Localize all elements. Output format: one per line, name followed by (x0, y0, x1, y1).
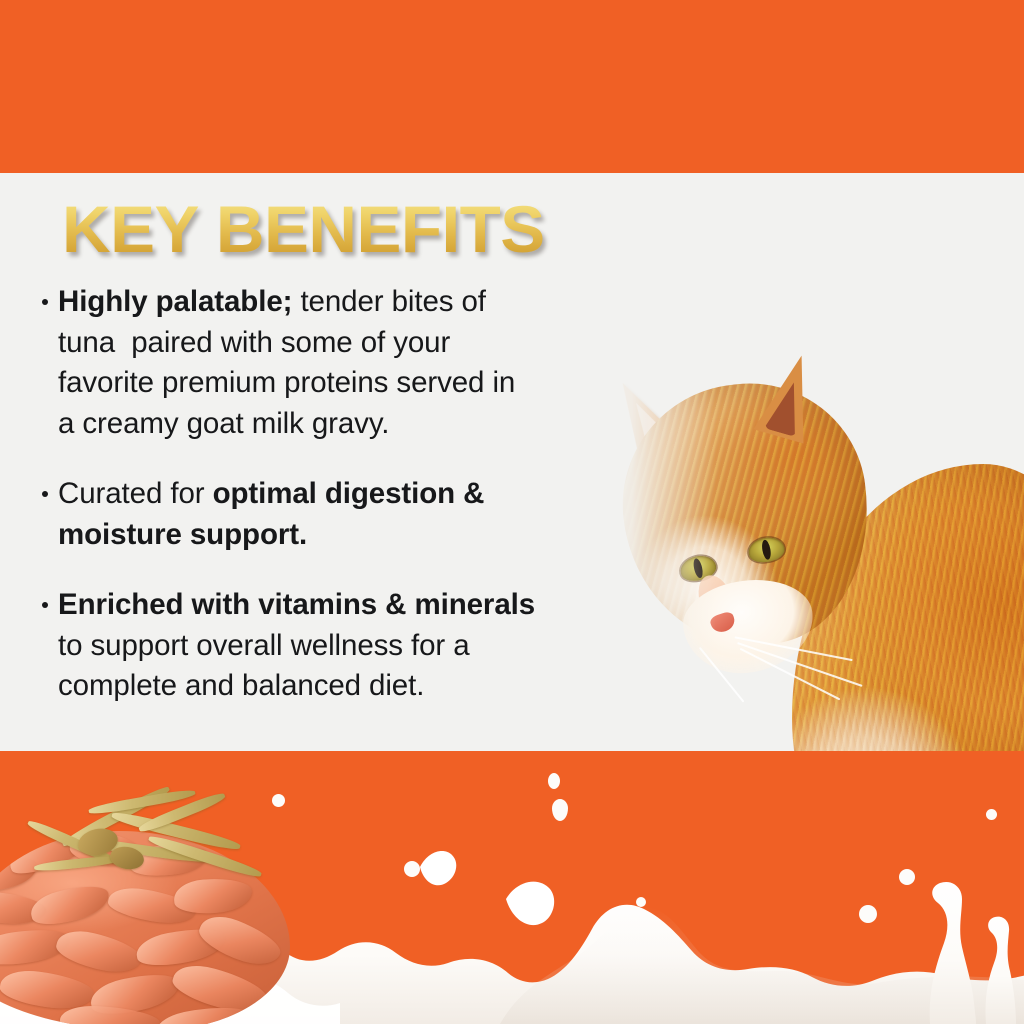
benefit-bold-text: moisture support. (58, 518, 307, 551)
bottom-orange-band (0, 751, 1024, 1024)
list-item: Enriched with vitamins & minerals to sup… (40, 585, 600, 707)
cat-photo-left-fade (596, 346, 716, 751)
benefit-text: a creamy goat milk gravy. (58, 404, 600, 445)
milk-droplet (859, 905, 877, 923)
list-item: Highly palatable; tender bites of tuna p… (40, 282, 600, 444)
page-title-wrap: KEY BENEFITS (62, 196, 535, 262)
benefit-text: complete and balanced diet. (58, 666, 600, 707)
cat-photo (596, 346, 1024, 751)
list-item: Curated for optimal digestion & moisture… (40, 474, 600, 555)
food-photo (0, 789, 320, 1024)
milk-droplet (548, 773, 560, 789)
bullet-dot-icon (42, 602, 48, 608)
benefit-bold-text: Highly palatable; (58, 285, 292, 318)
tuna-flake (53, 925, 145, 979)
milk-splash-finger-2 (506, 882, 554, 926)
benefit-text: Curated for (58, 477, 213, 510)
content-panel: KEY BENEFITS Highly palatable; tender bi… (0, 173, 1024, 751)
benefit-text: tender bites of (292, 285, 486, 318)
top-orange-band (0, 0, 1024, 173)
milk-splash-crown-right-2 (985, 917, 1016, 1024)
bullet-dot-icon (42, 491, 48, 497)
benefits-list: Highly palatable; tender bites of tuna p… (40, 282, 600, 707)
tuna-flake (173, 876, 253, 915)
benefit-bold-text: Enriched with vitamins & minerals (58, 588, 535, 621)
page-title: KEY BENEFITS (62, 196, 545, 262)
milk-droplet (899, 869, 915, 885)
tuna-mound (0, 831, 290, 1024)
bullet-dot-icon (42, 299, 48, 305)
benefit-text: to support overall wellness for a (58, 626, 600, 667)
milk-droplet (404, 861, 420, 877)
tuna-flake (194, 909, 285, 974)
key-benefits-poster: KEY BENEFITS Highly palatable; tender bi… (0, 0, 1024, 1024)
cat-eye-right (747, 535, 787, 565)
milk-splash-crown-right (930, 882, 976, 1024)
milk-splash-finger (420, 851, 456, 885)
benefit-text: tuna paired with some of your (58, 323, 600, 364)
benefit-text: favorite premium proteins served in (58, 363, 600, 404)
milk-droplet (986, 809, 997, 820)
benefit-bold-text: optimal digestion & (213, 477, 485, 510)
milk-droplet (636, 897, 646, 907)
tuna-flake (27, 880, 112, 930)
milk-droplet (272, 794, 285, 807)
